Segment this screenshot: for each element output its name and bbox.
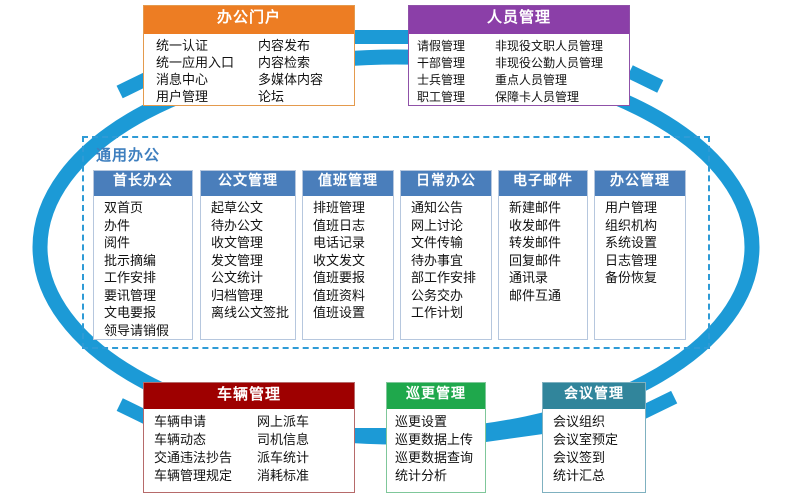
column-daily-office-title: 日常办公 — [401, 171, 491, 196]
list-item[interactable]: 士兵管理 — [417, 72, 495, 89]
column-email[interactable]: 电子邮件 新建邮件 收发邮件 转发邮件 回复邮件 通讯录 邮件互通 — [498, 170, 588, 340]
list-item[interactable]: 收文管理 — [211, 235, 295, 253]
list-item[interactable]: 组织机构 — [605, 218, 685, 236]
list-item[interactable]: 领导请销假 — [104, 323, 192, 341]
list-item[interactable]: 统计分析 — [395, 468, 485, 486]
list-item[interactable]: 消息中心 — [156, 72, 258, 89]
list-item[interactable]: 车辆申请 — [154, 414, 257, 432]
list-item[interactable]: 非现役文职人员管理 — [495, 38, 603, 55]
column-email-title: 电子邮件 — [499, 171, 587, 196]
card-office-portal-body: 统一认证 统一应用入口 消息中心 用户管理 内容发布 内容检索 多媒体内容 论坛 — [144, 34, 354, 109]
card-patrol-management[interactable]: 巡更管理 巡更设置 巡更数据上传 巡更数据查询 统计分析 — [386, 382, 486, 493]
card-personnel-col1: 请假管理 干部管理 士兵管理 职工管理 — [417, 38, 495, 106]
column-duty-management-body: 排班管理 值班日志 电话记录 收文发文 值班要报 值班资料 值班设置 — [303, 196, 393, 323]
list-item[interactable]: 消耗标准 — [257, 468, 309, 486]
list-item[interactable]: 要讯管理 — [104, 288, 192, 306]
list-item[interactable]: 论坛 — [258, 89, 323, 106]
general-office-title: 通用办公 — [96, 144, 160, 165]
list-item[interactable]: 会议签到 — [553, 450, 645, 468]
column-document-management-body: 起草公文 待办公文 收文管理 发文管理 公文统计 归档管理 离线公文签批 — [201, 196, 295, 323]
list-item[interactable]: 部工作安排 — [411, 270, 491, 288]
list-item[interactable]: 文电要报 — [104, 305, 192, 323]
list-item[interactable]: 会议组织 — [553, 414, 645, 432]
list-item[interactable]: 新建邮件 — [509, 200, 587, 218]
card-meeting-management-title: 会议管理 — [543, 383, 645, 409]
column-office-admin[interactable]: 办公管理 用户管理 组织机构 系统设置 日志管理 备份恢复 — [594, 170, 686, 340]
connector-vehicle-to-patrol — [352, 428, 390, 442]
card-vehicle-management-body: 车辆申请 车辆动态 交通违法抄告 车辆管理规定 网上派车 司机信息 派车统计 消… — [144, 409, 354, 489]
column-document-management[interactable]: 公文管理 起草公文 待办公文 收文管理 发文管理 公文统计 归档管理 离线公文签… — [200, 170, 296, 340]
list-item[interactable]: 转发邮件 — [509, 235, 587, 253]
list-item[interactable]: 文件传输 — [411, 235, 491, 253]
column-leader-office[interactable]: 首长办公 双首页 办件 阅件 批示摘编 工作安排 要讯管理 文电要报 领导请销假 — [93, 170, 193, 340]
list-item[interactable]: 统一应用入口 — [156, 55, 258, 72]
list-item[interactable]: 阅件 — [104, 235, 192, 253]
list-item[interactable]: 内容检索 — [258, 55, 323, 72]
column-email-body: 新建邮件 收发邮件 转发邮件 回复邮件 通讯录 邮件互通 — [499, 196, 587, 305]
list-item[interactable]: 起草公文 — [211, 200, 295, 218]
card-office-portal-title: 办公门户 — [144, 6, 354, 34]
list-item[interactable]: 值班资料 — [313, 288, 393, 306]
list-item[interactable]: 办件 — [104, 218, 192, 236]
column-duty-management-title: 值班管理 — [303, 171, 393, 196]
card-meeting-management-body: 会议组织 会议室预定 会议签到 统计汇总 — [543, 409, 645, 489]
list-item[interactable]: 网上派车 — [257, 414, 309, 432]
list-item[interactable]: 通讯录 — [509, 270, 587, 288]
list-item[interactable]: 非现役公勤人员管理 — [495, 55, 603, 72]
list-item[interactable]: 巡更设置 — [395, 414, 485, 432]
card-vehicle-management[interactable]: 车辆管理 车辆申请 车辆动态 交通违法抄告 车辆管理规定 网上派车 司机信息 派… — [143, 382, 355, 493]
card-office-portal-col2: 内容发布 内容检索 多媒体内容 论坛 — [258, 38, 323, 106]
connector-patrol-to-meeting — [481, 420, 546, 443]
card-personnel-col2: 非现役文职人员管理 非现役公勤人员管理 重点人员管理 保障卡人员管理 — [495, 38, 603, 106]
column-document-management-title: 公文管理 — [201, 171, 295, 196]
list-item[interactable]: 车辆管理规定 — [154, 468, 257, 486]
card-personnel-management-body: 请假管理 干部管理 士兵管理 职工管理 非现役文职人员管理 非现役公勤人员管理 … — [409, 34, 629, 109]
list-item[interactable]: 重点人员管理 — [495, 72, 603, 89]
list-item[interactable]: 发文管理 — [211, 253, 295, 271]
list-item[interactable]: 职工管理 — [417, 89, 495, 106]
list-item[interactable]: 邮件互通 — [509, 288, 587, 306]
list-item[interactable]: 车辆动态 — [154, 432, 257, 450]
column-office-admin-title: 办公管理 — [595, 171, 685, 196]
card-office-portal[interactable]: 办公门户 统一认证 统一应用入口 消息中心 用户管理 内容发布 内容检索 多媒体… — [143, 5, 355, 106]
list-item[interactable]: 备份恢复 — [605, 270, 685, 288]
list-item[interactable]: 收发邮件 — [509, 218, 587, 236]
list-item[interactable]: 日志管理 — [605, 253, 685, 271]
list-item[interactable]: 巡更数据查询 — [395, 450, 485, 468]
column-duty-management[interactable]: 值班管理 排班管理 值班日志 电话记录 收文发文 值班要报 值班资料 值班设置 — [302, 170, 394, 340]
list-item[interactable]: 干部管理 — [417, 55, 495, 72]
list-item[interactable]: 统一认证 — [156, 38, 258, 55]
list-item[interactable]: 归档管理 — [211, 288, 295, 306]
column-daily-office[interactable]: 日常办公 通知公告 网上讨论 文件传输 待办事宜 部工作安排 公务交办 工作计划 — [400, 170, 492, 340]
list-item[interactable]: 用户管理 — [605, 200, 685, 218]
list-item[interactable]: 公务交办 — [411, 288, 491, 306]
list-item[interactable]: 回复邮件 — [509, 253, 587, 271]
list-item[interactable]: 值班要报 — [313, 270, 393, 288]
connector-personnel-to-ring — [627, 65, 664, 92]
list-item[interactable]: 用户管理 — [156, 89, 258, 106]
card-personnel-management[interactable]: 人员管理 请假管理 干部管理 士兵管理 职工管理 非现役文职人员管理 非现役公勤… — [408, 5, 630, 106]
diagram-canvas: 办公门户 统一认证 统一应用入口 消息中心 用户管理 内容发布 内容检索 多媒体… — [0, 0, 790, 500]
list-item[interactable]: 值班设置 — [313, 305, 393, 323]
card-vehicle-management-title: 车辆管理 — [144, 383, 354, 409]
list-item[interactable]: 内容发布 — [258, 38, 323, 55]
card-meeting-management[interactable]: 会议管理 会议组织 会议室预定 会议签到 统计汇总 — [542, 382, 646, 493]
list-item[interactable]: 派车统计 — [257, 450, 309, 468]
list-item[interactable]: 保障卡人员管理 — [495, 89, 603, 106]
connector-portal-to-personnel — [352, 30, 412, 44]
list-item[interactable]: 批示摘编 — [104, 253, 192, 271]
column-leader-office-body: 双首页 办件 阅件 批示摘编 工作安排 要讯管理 文电要报 领导请销假 — [94, 196, 192, 340]
column-office-admin-body: 用户管理 组织机构 系统设置 日志管理 备份恢复 — [595, 196, 685, 288]
card-patrol-management-title: 巡更管理 — [387, 383, 485, 409]
card-vehicle-col2: 网上派车 司机信息 派车统计 消耗标准 — [257, 414, 309, 486]
list-item[interactable]: 统计汇总 — [553, 468, 645, 486]
list-item[interactable]: 巡更数据上传 — [395, 432, 485, 450]
card-office-portal-col1: 统一认证 统一应用入口 消息中心 用户管理 — [156, 38, 258, 106]
list-item[interactable]: 公文统计 — [211, 270, 295, 288]
list-item[interactable]: 值班日志 — [313, 218, 393, 236]
list-item[interactable]: 通知公告 — [411, 200, 491, 218]
list-item[interactable]: 工作安排 — [104, 270, 192, 288]
card-personnel-management-title: 人员管理 — [409, 6, 629, 34]
list-item[interactable]: 系统设置 — [605, 235, 685, 253]
card-vehicle-col1: 车辆申请 车辆动态 交通违法抄告 车辆管理规定 — [154, 414, 257, 486]
card-patrol-management-body: 巡更设置 巡更数据上传 巡更数据查询 统计分析 — [387, 409, 485, 489]
list-item[interactable]: 交通违法抄告 — [154, 450, 257, 468]
list-item[interactable]: 多媒体内容 — [258, 72, 323, 89]
list-item[interactable]: 收文发文 — [313, 253, 393, 271]
list-item[interactable]: 请假管理 — [417, 38, 495, 55]
list-item[interactable]: 离线公文签批 — [211, 305, 295, 323]
list-item[interactable]: 待办公文 — [211, 218, 295, 236]
list-item[interactable]: 排班管理 — [313, 200, 393, 218]
list-item[interactable]: 电话记录 — [313, 235, 393, 253]
list-item[interactable]: 司机信息 — [257, 432, 309, 450]
column-daily-office-body: 通知公告 网上讨论 文件传输 待办事宜 部工作安排 公务交办 工作计划 — [401, 196, 491, 323]
list-item[interactable]: 网上讨论 — [411, 218, 491, 236]
list-item[interactable]: 工作计划 — [411, 305, 491, 323]
list-item[interactable]: 双首页 — [104, 200, 192, 218]
column-leader-office-title: 首长办公 — [94, 171, 192, 196]
list-item[interactable]: 会议室预定 — [553, 432, 645, 450]
list-item[interactable]: 待办事宜 — [411, 253, 491, 271]
